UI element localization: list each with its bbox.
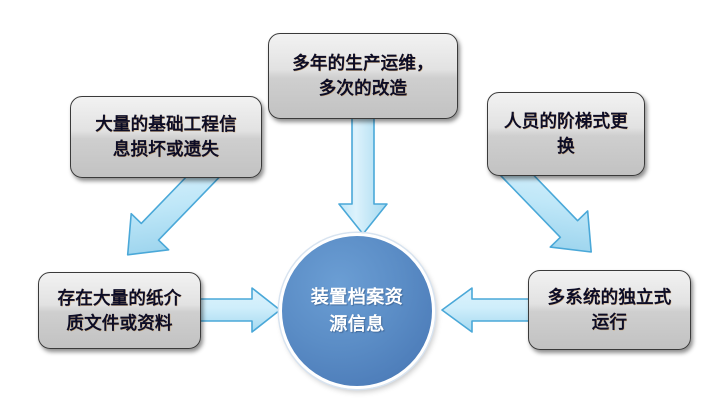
upper-right-arrow (408, 160, 520, 268)
node-box-right[interactable]: 多系统的独立式 运行 (528, 270, 691, 350)
center-circle[interactable]: 装置档案资 源信息 (279, 233, 435, 389)
node-box-upper-left[interactable]: 大量的基础工程信 息损坏或遗失 (70, 96, 262, 178)
node-label-upper-left: 大量的基础工程信 息损坏或遗失 (89, 112, 243, 162)
node-label-upper-right: 人员的阶梯式更 换 (498, 109, 634, 159)
right-arrow (440, 288, 536, 334)
node-label-left: 存在大量的纸介 质文件或资料 (52, 286, 188, 336)
node-box-upper-right[interactable]: 人员的阶梯式更 换 (487, 92, 645, 176)
node-label-top: 多年的生产运维， 多次的改造 (286, 51, 440, 101)
left-arrow (198, 288, 282, 334)
node-box-top[interactable]: 多年的生产运维， 多次的改造 (268, 33, 458, 119)
diagram-canvas: 多年的生产运维， 多次的改造 大量的基础工程信 息损坏或遗失 人员的阶梯式更 换… (0, 0, 723, 417)
center-circle-label: 装置档案资 源信息 (311, 284, 404, 338)
top-arrow (330, 112, 396, 244)
node-label-right: 多系统的独立式 运行 (542, 285, 678, 335)
node-box-left[interactable]: 存在大量的纸介 质文件或资料 (38, 272, 201, 349)
